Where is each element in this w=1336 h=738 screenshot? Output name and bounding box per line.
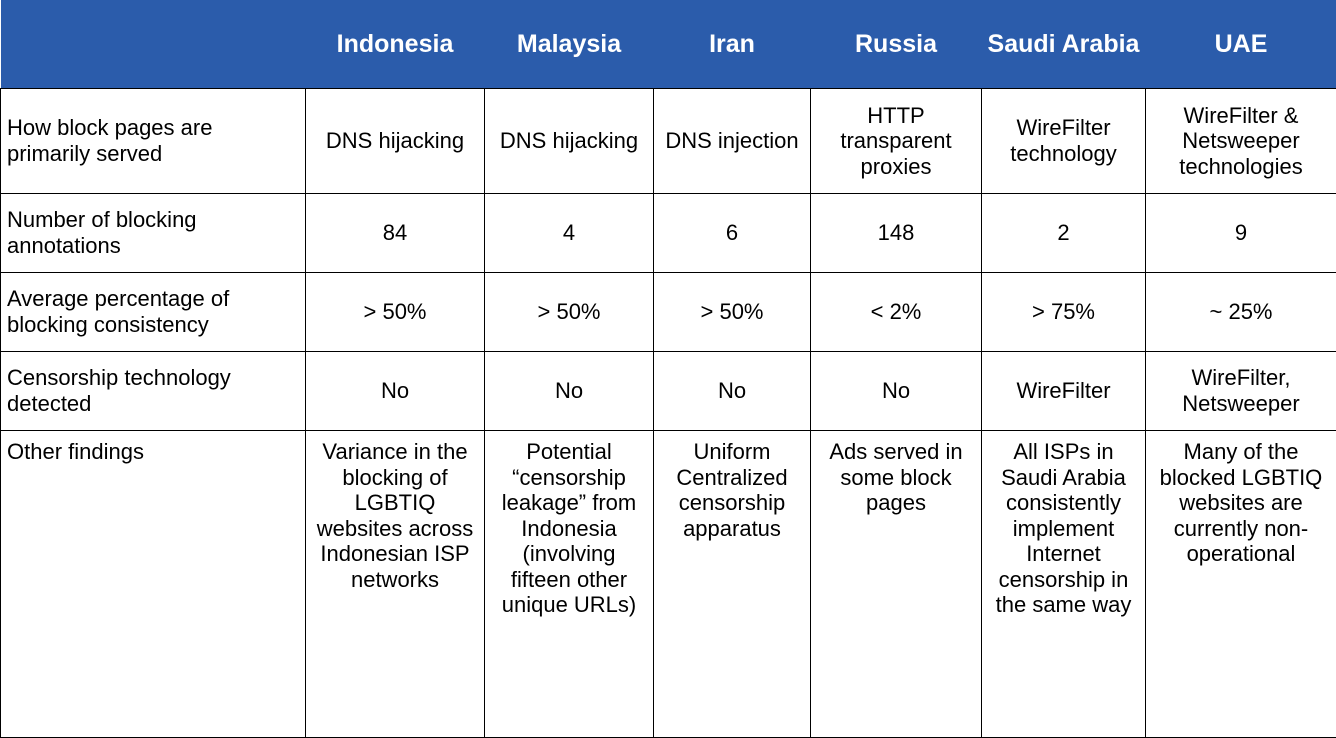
row-label-other-findings: Other findings xyxy=(1,431,306,738)
cell-served-russia: HTTP transparent proxies xyxy=(811,89,982,194)
cell-consistency-indonesia: > 50% xyxy=(306,273,485,352)
header-col-uae: UAE xyxy=(1146,0,1336,89)
cell-detected-iran: No xyxy=(654,352,811,431)
header-col-russia: Russia xyxy=(811,0,982,89)
cell-count-uae: 9 xyxy=(1146,194,1336,273)
table-container: Indonesia Malaysia Iran Russia Saudi Ara… xyxy=(0,0,1336,726)
cell-count-indonesia: 84 xyxy=(306,194,485,273)
cell-consistency-uae: ~ 25% xyxy=(1146,273,1336,352)
row-label-censorship-technology-detected: Censorship technology detected xyxy=(1,352,306,431)
cell-count-saudi-arabia: 2 xyxy=(982,194,1146,273)
table-body: How block pages are primarily served DNS… xyxy=(1,89,1336,738)
cell-consistency-russia: < 2% xyxy=(811,273,982,352)
table-row: Censorship technology detected No No No … xyxy=(1,352,1336,431)
cell-detected-malaysia: No xyxy=(485,352,654,431)
table-row: Other findings Variance in the blocking … xyxy=(1,431,1336,738)
table-row: Average percentage of blocking consisten… xyxy=(1,273,1336,352)
cell-detected-saudi-arabia: WireFilter xyxy=(982,352,1146,431)
header-row: Indonesia Malaysia Iran Russia Saudi Ara… xyxy=(1,0,1336,89)
cell-other-uae: Many of the blocked LGBTIQ websites are … xyxy=(1146,431,1336,738)
table-header: Indonesia Malaysia Iran Russia Saudi Ara… xyxy=(1,0,1336,89)
cell-consistency-saudi-arabia: > 75% xyxy=(982,273,1146,352)
cell-served-saudi-arabia: WireFilter technology xyxy=(982,89,1146,194)
cell-other-iran: Uniform Centralized censorship apparatus xyxy=(654,431,811,738)
cell-other-indonesia: Variance in the blocking of LGBTIQ websi… xyxy=(306,431,485,738)
cell-other-russia: Ads served in some block pages xyxy=(811,431,982,738)
cell-served-iran: DNS injection xyxy=(654,89,811,194)
cell-count-malaysia: 4 xyxy=(485,194,654,273)
cell-served-indonesia: DNS hijacking xyxy=(306,89,485,194)
row-label-how-block-pages-served: How block pages are primarily served xyxy=(1,89,306,194)
cell-count-russia: 148 xyxy=(811,194,982,273)
cell-other-malaysia: Potential “censorship leakage” from Indo… xyxy=(485,431,654,738)
cell-detected-indonesia: No xyxy=(306,352,485,431)
cell-detected-russia: No xyxy=(811,352,982,431)
country-censorship-comparison-table: Indonesia Malaysia Iran Russia Saudi Ara… xyxy=(0,0,1336,738)
header-col-malaysia: Malaysia xyxy=(485,0,654,89)
header-col-indonesia: Indonesia xyxy=(306,0,485,89)
header-col-saudi-arabia: Saudi Arabia xyxy=(982,0,1146,89)
row-label-number-of-blocking-annotations: Number of blocking annotations xyxy=(1,194,306,273)
row-label-average-blocking-consistency: Average percentage of blocking consisten… xyxy=(1,273,306,352)
cell-other-saudi-arabia: All ISPs in Saudi Arabia consistently im… xyxy=(982,431,1146,738)
table-row: Number of blocking annotations 84 4 6 14… xyxy=(1,194,1336,273)
header-col-iran: Iran xyxy=(654,0,811,89)
cell-consistency-iran: > 50% xyxy=(654,273,811,352)
cell-served-uae: WireFilter & Netsweeper technologies xyxy=(1146,89,1336,194)
header-corner-cell xyxy=(1,0,306,89)
table-row: How block pages are primarily served DNS… xyxy=(1,89,1336,194)
cell-count-iran: 6 xyxy=(654,194,811,273)
cell-detected-uae: WireFilter, Netsweeper xyxy=(1146,352,1336,431)
cell-consistency-malaysia: > 50% xyxy=(485,273,654,352)
cell-served-malaysia: DNS hijacking xyxy=(485,89,654,194)
